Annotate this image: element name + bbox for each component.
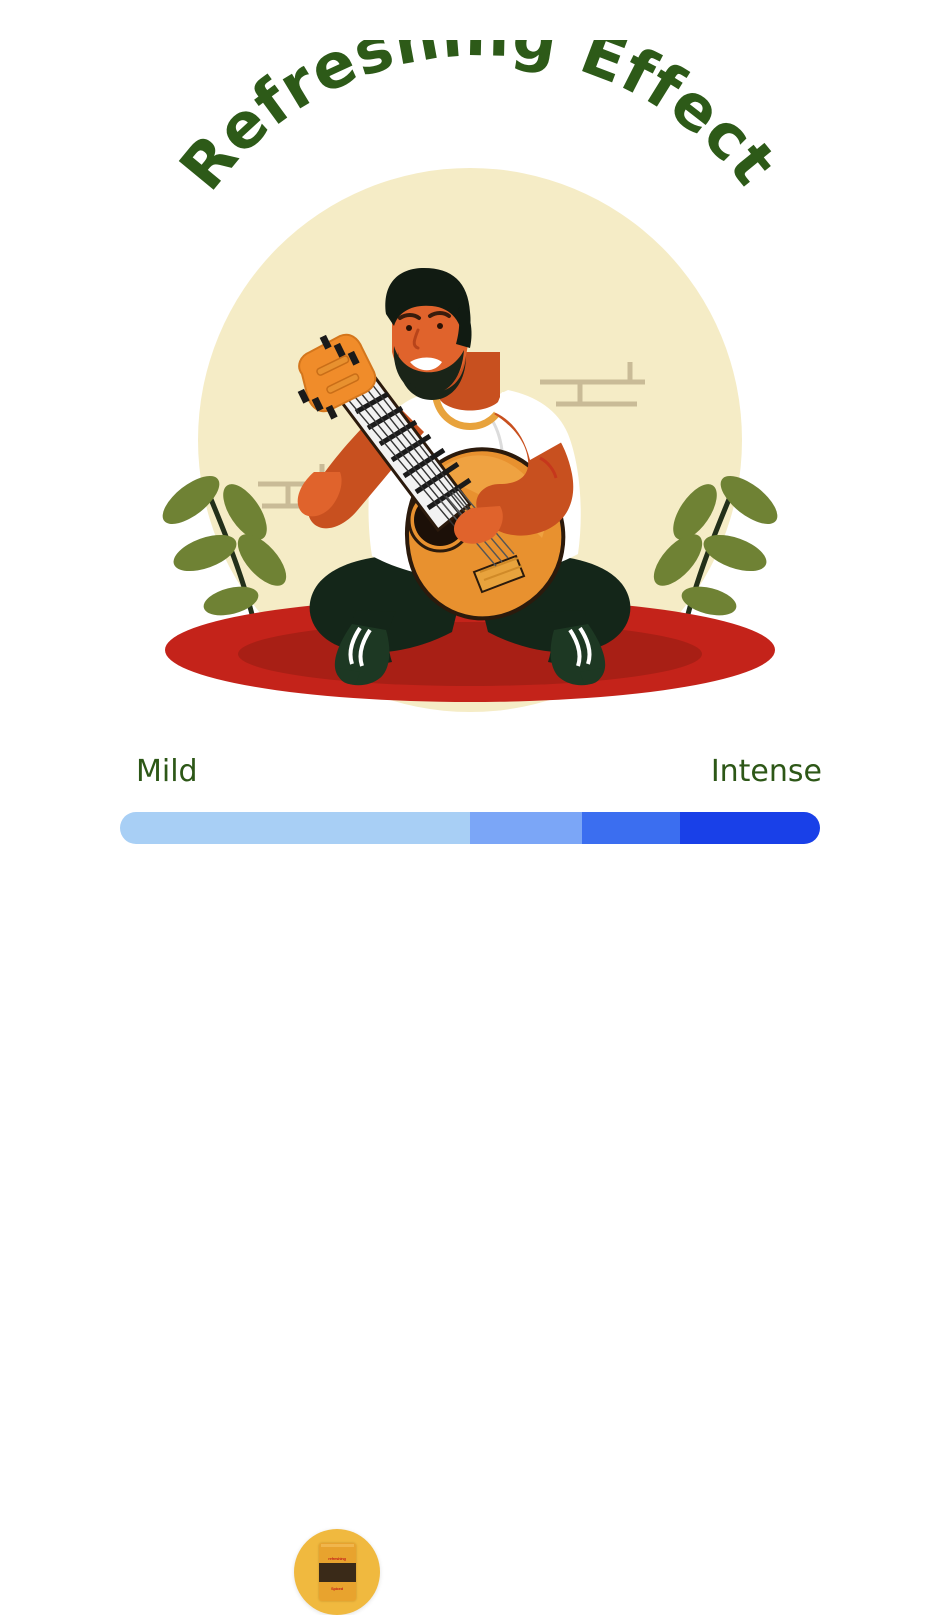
pouch-text-bottom: Spiced	[319, 1586, 356, 1591]
page-root: Refreshing Effect Mild Intense refreshin…	[0, 0, 940, 940]
pouch-seal	[321, 1544, 354, 1547]
slider-labels: Mild Intense	[0, 752, 940, 796]
intensity-slider[interactable]: Mild Intense refreshing Spiced	[0, 752, 940, 882]
pouch-bottom: Spiced	[319, 1582, 356, 1601]
slider-segment-strong[interactable]	[582, 812, 680, 844]
pouch-text-top: refreshing	[319, 1556, 356, 1561]
pouch-window	[319, 1563, 356, 1582]
page-title-textpath: Refreshing Effect	[165, 40, 791, 204]
slider-label-intense: Intense	[711, 752, 822, 792]
slider-segment-intense[interactable]	[680, 812, 820, 844]
page-title-text: Refreshing Effect	[165, 40, 791, 204]
slider-thumb[interactable]: refreshing Spiced	[294, 1529, 380, 1615]
slider-segment-mild[interactable]	[120, 812, 470, 844]
slider-label-mild: Mild	[136, 752, 198, 792]
rug-inner	[238, 622, 702, 686]
coffee-pouch-icon: refreshing Spiced	[319, 1543, 356, 1601]
pouch-top: refreshing	[319, 1543, 356, 1563]
page-title: Refreshing Effect	[0, 40, 940, 290]
slider-track[interactable]	[120, 812, 820, 844]
slider-segment-moderate[interactable]	[470, 812, 582, 844]
